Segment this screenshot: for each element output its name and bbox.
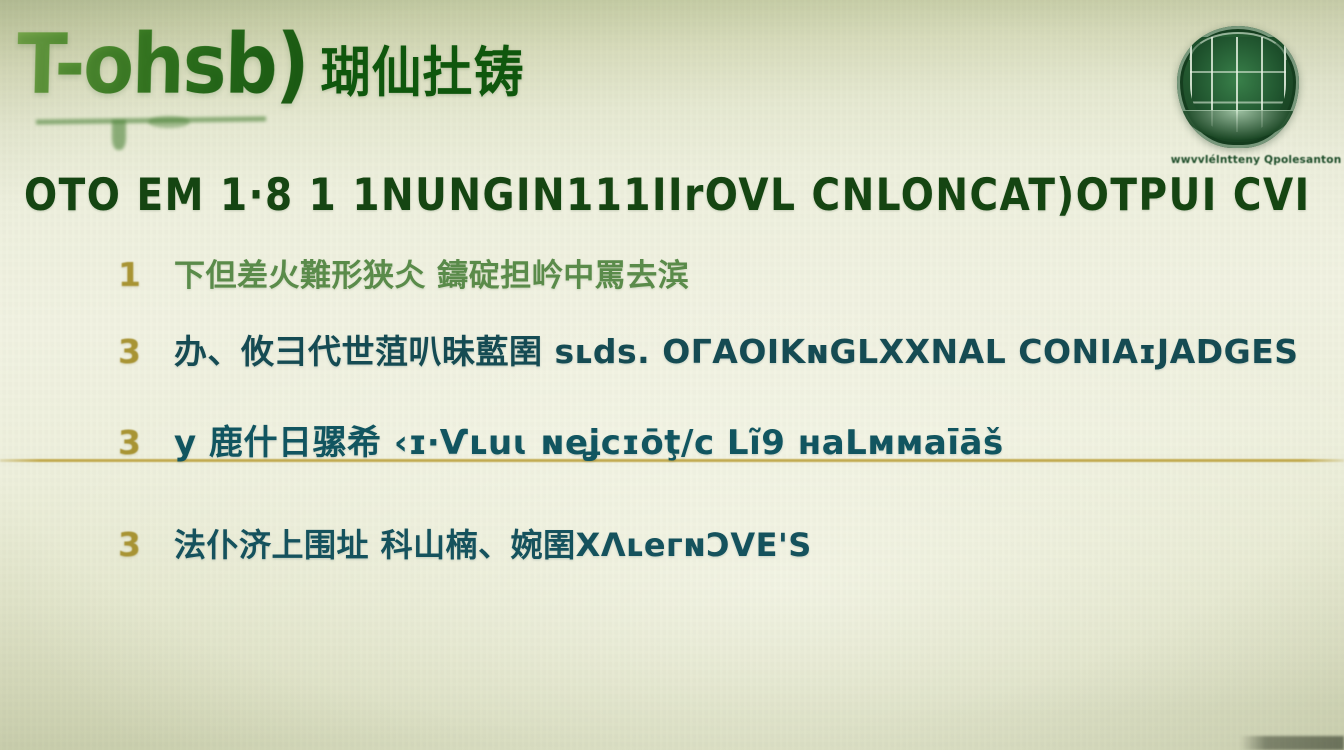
title-smudge-stroke (36, 116, 266, 124)
list-item-label: 办、攸彐代世菹叭昧藍圉 sʟds. OΓAOIKɴGLXXNAL CONIAɪJ… (174, 325, 1299, 373)
title-smudge-blot (148, 116, 190, 128)
slide-title: T-ohsb) 瑚仙扗铸 (16, 34, 525, 104)
list-item-number: 3 (118, 423, 144, 462)
slide-canvas: T-ohsb) 瑚仙扗铸 OTO EM 1·8 1 1NUNGIN111IIrO… (0, 0, 1344, 750)
list-item-label: у 鹿什日骡希 ‹ɪ‧Ѵʟuɩ ɴеʝcɪо̄ţ/c Lĩ9 ʜaLᴍᴍaīāš (174, 415, 1004, 464)
crest-shield-icon (1177, 26, 1299, 148)
title-smudge-drip (112, 120, 126, 150)
list-item: 3 办、攸彐代世菹叭昧藍圉 sʟds. OΓAOIKɴGLXXNAL CONIA… (118, 325, 1238, 373)
list-item-label: 下但差火難形狭仌 鑄碇担岒中罵去滨 (174, 250, 689, 295)
crest-caption-text: wwvvlélntteny Qpolesanton (1171, 153, 1305, 166)
title-cjk-text: 瑚仙扗铸 (321, 46, 525, 106)
list-item: 3 у 鹿什日骡希 ‹ɪ‧Ѵʟuɩ ɴеʝcɪо̄ţ/c Lĩ9 ʜaLᴍᴍaī… (118, 415, 1238, 464)
crest-banner-scroll (1183, 110, 1293, 140)
list-item-number: 1 (118, 255, 144, 294)
list-item: 3 法仆济上围址 科山楠、婉圉ΧΛʟeгɴƆVE'S (118, 520, 1238, 566)
slide-subtitle: OTO EM 1·8 1 1NUNGIN111IIrOVL CNLONCAT)O… (24, 170, 1311, 221)
corner-shadow (1240, 736, 1344, 750)
university-crest-logo: wwvvlélntteny Qpolesanton (1168, 26, 1308, 166)
list-item: 1 下但差火難形狭仌 鑄碇担岒中罵去滨 (118, 250, 1238, 295)
title-latin-text: T-ohsb) (16, 26, 309, 105)
bullet-list: 1 下但差火難形狭仌 鑄碇担岒中罵去滨 3 办、攸彐代世菹叭昧藍圉 sʟds. … (118, 250, 1238, 566)
list-item-label: 法仆济上围址 科山楠、婉圉ΧΛʟeгɴƆVE'S (174, 520, 812, 566)
list-item-number: 3 (118, 332, 144, 371)
list-item-number: 3 (118, 525, 144, 564)
